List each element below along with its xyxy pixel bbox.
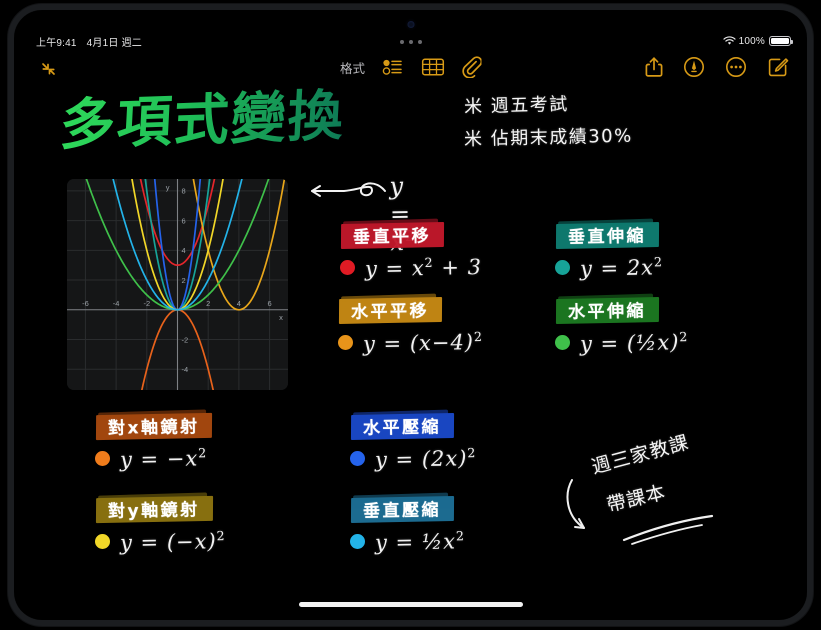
collapse-sidebar-icon[interactable] [38,58,60,80]
header-notes: 米 週五考試 米 佔期末成績30% [464,90,664,152]
status-time: 上午9:41 [36,34,77,49]
equation-row: y = −x2 [95,446,207,471]
transformation-label: 垂直平移 [353,226,431,247]
battery-percent: 100% [739,36,765,47]
transformation-label: 垂直伸縮 [568,226,646,247]
equation-text: y = (x−4)2 [363,329,483,356]
transformation-card: 水平壓縮y = (2x)2 [354,410,450,442]
header-note-line: 米 佔期末成績30% [464,121,665,151]
svg-text:2: 2 [206,299,210,308]
equation-row: y = (2x)2 [350,446,476,471]
table-icon[interactable] [421,57,444,77]
svg-text:8: 8 [182,187,186,196]
front-camera [407,21,414,28]
equation-row: y = ½x2 [350,529,465,554]
svg-text:4: 4 [237,299,241,308]
series-color-dot [95,534,110,549]
svg-text:-4: -4 [113,299,120,308]
transformation-label: 垂直壓縮 [363,500,441,521]
page-title: 多項式變換 [62,88,392,158]
highlighted-label: 水平壓縮 [354,409,451,443]
transformation-card: 垂直伸縮y = 2x2 [559,219,655,251]
ipad-device: 上午9:41 4月1日 週二 100% [0,0,821,630]
status-date: 4月1日 週二 [87,34,142,49]
multitask-dot [418,40,422,44]
multitasking-handle[interactable] [400,40,422,44]
transformation-label: 對x軸鏡射 [108,417,200,439]
status-bar-left: 上午9:41 4月1日 週二 [36,34,142,49]
compose-icon[interactable] [767,56,789,78]
transformation-card: 對y軸鏡射y = (−x)2 [99,493,209,525]
svg-text:6: 6 [267,299,271,308]
note-canvas[interactable]: 多項式變換 米 週五考試 米 佔期末成績30% -6-4-2246-4-2246… [14,82,807,620]
reminder-memo: 週三家教課 帶課本 [562,432,762,552]
screen: 上午9:41 4月1日 週二 100% [14,10,807,620]
multitask-dot [409,40,413,44]
svg-text:x: x [279,313,283,322]
highlighted-label: 對x軸鏡射 [99,409,209,443]
series-color-dot [340,260,355,275]
toolbar-right-group [645,56,789,78]
share-icon[interactable] [645,56,663,78]
svg-text:2: 2 [182,276,186,285]
equation-text: y = (2x)2 [375,445,477,472]
equation-row: y = (½x)2 [555,330,688,355]
equation-row: y = (x−4)2 [338,330,483,355]
svg-text:4: 4 [182,246,186,255]
highlighted-label: 垂直壓縮 [354,492,451,526]
highlighted-label: 垂直伸縮 [559,218,656,252]
transformation-card: 對x軸鏡射y = −x2 [99,410,208,442]
svg-text:-2: -2 [182,335,189,344]
highlighted-label: 垂直平移 [344,218,441,252]
series-color-dot [555,335,570,350]
svg-text:-6: -6 [82,299,89,308]
equation-text: y = −x2 [120,445,208,472]
equation-text: y = ½x2 [375,528,465,555]
transformation-label: 對y軸鏡射 [108,500,200,522]
graph-plot: -6-4-2246-4-22468xy [67,179,288,390]
series-color-dot [350,451,365,466]
equation-row: y = x2 + 3 [340,255,482,280]
transformation-label: 水平平移 [351,301,429,322]
highlighted-label: 對y軸鏡射 [99,492,209,526]
transformation-card: 水平平移y = (x−4)2 [342,294,438,326]
svg-text:6: 6 [182,216,186,225]
equation-row: y = 2x2 [555,255,663,280]
status-bar-right: 100% [723,36,791,47]
transformation-card: 垂直壓縮y = ½x2 [354,493,450,525]
checklist-icon[interactable] [382,57,404,77]
transformation-label: 水平伸縮 [568,301,646,322]
paperclip-icon[interactable] [461,56,481,78]
series-color-dot [555,260,570,275]
format-button[interactable]: 格式 [340,58,365,77]
highlighted-label: 水平伸縮 [559,293,656,327]
svg-text:y: y [166,183,170,192]
equation-text: y = (½x)2 [580,329,689,356]
transformation-card: 垂直平移y = x2 + 3 [344,219,440,251]
svg-text:-2: -2 [143,299,150,308]
series-color-dot [350,534,365,549]
series-color-dot [338,335,353,350]
equation-text: y = 2x2 [580,254,663,280]
transformation-label: 水平壓縮 [363,417,441,438]
series-color-dot [95,451,110,466]
svg-text:-4: -4 [182,365,189,374]
battery-icon [769,36,791,46]
highlighted-label: 水平平移 [342,293,439,327]
toolbar-center-group: 格式 [340,56,481,78]
equation-row: y = (−x)2 [95,529,226,554]
header-note-line: 米 週五考試 [464,87,665,118]
multitask-dot [400,40,404,44]
markup-pen-icon[interactable] [683,56,705,78]
wifi-icon [723,36,735,46]
parabola-graph[interactable]: -6-4-2246-4-22468xy [67,179,288,390]
transformation-card: 水平伸縮y = (½x)2 [559,294,655,326]
more-ellipsis-icon[interactable] [725,56,747,78]
equation-text: y = x2 + 3 [365,254,482,281]
home-indicator[interactable] [299,602,523,607]
page-title-text: 多項式變換 [62,88,347,157]
equation-text: y = (−x)2 [120,528,226,555]
